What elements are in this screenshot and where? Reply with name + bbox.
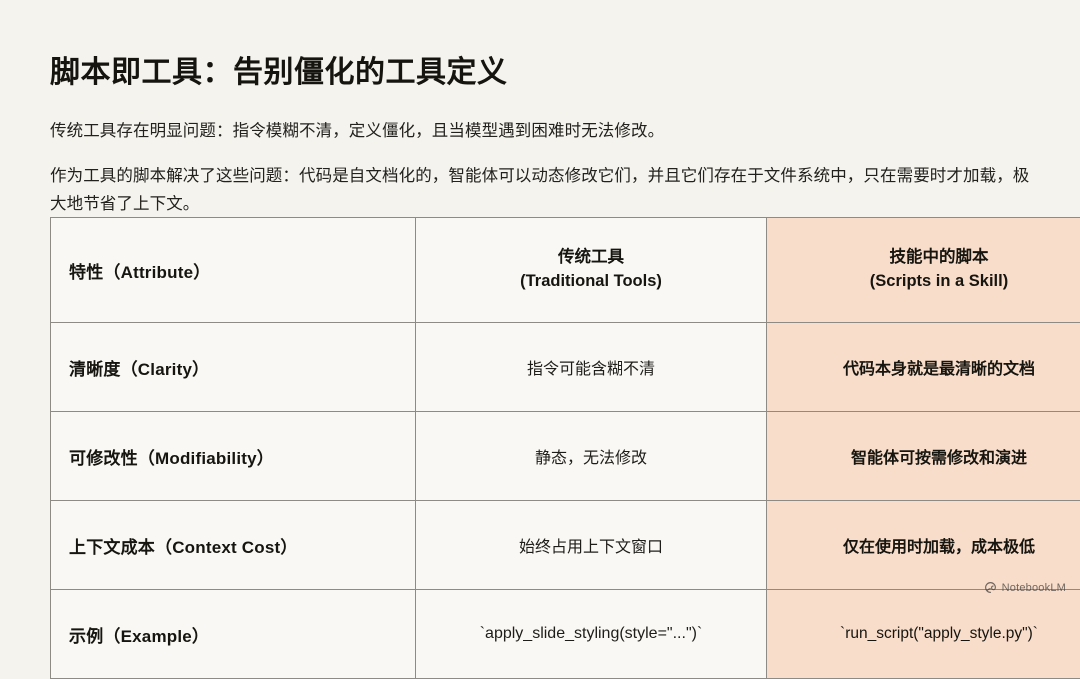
header-cell-attribute: 特性（Attribute）	[51, 218, 416, 323]
header-scripts-line2: (Scripts in a Skill)	[779, 270, 1080, 294]
comparison-table: 特性（Attribute） 传统工具 (Traditional Tools) 技…	[50, 217, 1080, 679]
cell-traditional: 始终占用上下文窗口	[416, 501, 767, 590]
header-traditional-line1: 传统工具	[428, 246, 754, 270]
intro-paragraph-solution: 作为工具的脚本解决了这些问题：代码是自文档化的，智能体可以动态修改它们，并且它们…	[50, 162, 1030, 219]
table-header-row: 特性（Attribute） 传统工具 (Traditional Tools) 技…	[51, 218, 1080, 323]
slide-canvas: 脚本即工具：告别僵化的工具定义 传统工具存在明显问题：指令模糊不清，定义僵化，且…	[0, 0, 1080, 603]
notebooklm-spiral-icon	[984, 581, 997, 594]
header-cell-traditional-tools: 传统工具 (Traditional Tools)	[416, 218, 767, 323]
cell-traditional: 静态，无法修改	[416, 412, 767, 501]
cell-attribute: 上下文成本（Context Cost）	[51, 501, 416, 590]
table-row: 上下文成本（Context Cost） 始终占用上下文窗口 仅在使用时加载，成本…	[51, 501, 1080, 590]
notebooklm-watermark: NotebookLM	[984, 581, 1066, 594]
cell-attribute: 清晰度（Clarity）	[51, 323, 416, 412]
table-row: 可修改性（Modifiability） 静态，无法修改 智能体可按需修改和演进	[51, 412, 1080, 501]
notebooklm-watermark-label: NotebookLM	[1002, 582, 1066, 594]
table-row: 清晰度（Clarity） 指令可能含糊不清 代码本身就是最清晰的文档	[51, 323, 1080, 412]
cell-attribute: 可修改性（Modifiability）	[51, 412, 416, 501]
cell-scripts: 仅在使用时加载，成本极低	[767, 501, 1080, 590]
header-scripts-line1: 技能中的脚本	[779, 246, 1080, 270]
page-title: 脚本即工具：告别僵化的工具定义	[50, 54, 508, 92]
cell-scripts: 代码本身就是最清晰的文档	[767, 323, 1080, 412]
intro-paragraph-problem: 传统工具存在明显问题：指令模糊不清，定义僵化，且当模型遇到困难时无法修改。	[50, 117, 1010, 145]
header-cell-scripts-in-skill: 技能中的脚本 (Scripts in a Skill)	[767, 218, 1080, 323]
header-traditional-line2: (Traditional Tools)	[428, 270, 754, 294]
cell-scripts: 智能体可按需修改和演进	[767, 412, 1080, 501]
cell-traditional: 指令可能含糊不清	[416, 323, 767, 412]
